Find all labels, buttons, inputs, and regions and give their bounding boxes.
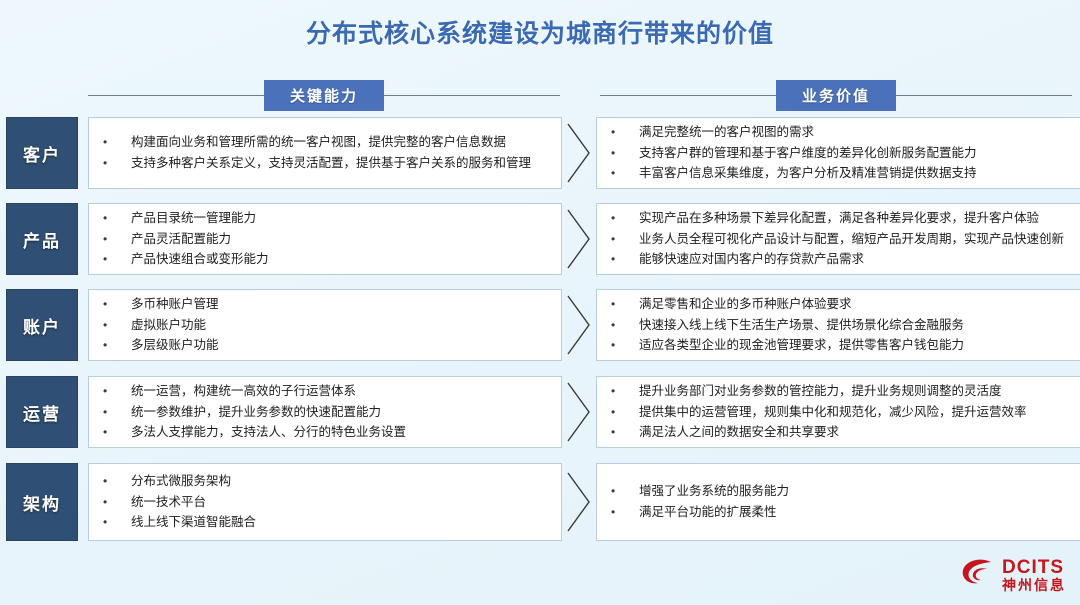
bullet-text: 快速接入线上线下生活生产场景、提供场景化综合金融服务 [639, 319, 1071, 332]
capability-row: 客户•构建面向业务和管理所需的统一客户视图，提供完整的客户信息数据•支持多种客户… [0, 117, 1080, 189]
bullet-icon: • [611, 319, 639, 332]
bullet-icon: • [611, 167, 639, 180]
bullet-item: •虚拟账户功能 [103, 315, 551, 336]
bullet-icon: • [611, 147, 639, 160]
bullet-item: •统一参数维护，提升业务参数的快速配置能力 [103, 402, 551, 423]
bullet-icon: • [611, 253, 639, 266]
logo-en-label: DCITS [1002, 558, 1066, 578]
bullet-text: 能够快速应对国内客户的存贷款产品需求 [639, 253, 1071, 266]
column-header-key-capabilities: 关键能力 [88, 82, 560, 109]
bullet-icon: • [103, 212, 131, 225]
bullet-icon: • [103, 475, 131, 488]
bullet-text: 丰富客户信息采集维度，为客户分析及精准营销提供数据支持 [639, 167, 1071, 180]
bullet-item: •分布式微服务架构 [103, 471, 551, 492]
bullet-item: •统一运营，构建统一高效的子行运营体系 [103, 381, 551, 402]
capability-row: 架构•分布式微服务架构•统一技术平台•线上线下渠道智能融合•增强了业务系统的服务… [0, 463, 1080, 541]
chevron-right-icon [562, 289, 596, 361]
page-title: 分布式核心系统建设为城商行带来的价值 [0, 14, 1080, 50]
capabilities-panel: •分布式微服务架构•统一技术平台•线上线下渠道智能融合 [88, 463, 562, 541]
bullet-icon: • [611, 506, 639, 519]
bullet-icon: • [103, 157, 131, 170]
business-value-panel: •满足完整统一的客户视图的需求•支持客户群的管理和基于客户维度的差异化创新服务配… [596, 117, 1080, 189]
bullet-text: 满足完整统一的客户视图的需求 [639, 126, 1071, 139]
bullet-text: 满足法人之间的数据安全和共享要求 [639, 426, 1071, 439]
bullet-text: 多法人支撑能力，支持法人、分行的特色业务设置 [131, 426, 551, 439]
bullet-item: •线上线下渠道智能融合 [103, 512, 551, 533]
row-label-4: 架构 [6, 463, 78, 541]
capability-row: 账户•多币种账户管理•虚拟账户功能•多层级账户功能•满足零售和企业的多币种账户体… [0, 289, 1080, 361]
bullet-icon: • [611, 233, 639, 246]
logo-text-block: DCITS 神州信息 [1002, 558, 1066, 593]
row-label-2: 账户 [6, 289, 78, 361]
header-rule-right [600, 95, 776, 96]
bullet-text: 实现产品在多种场景下差异化配置，满足各种差异化要求，提升客户体验 [639, 212, 1071, 225]
capabilities-panel: •多币种账户管理•虚拟账户功能•多层级账户功能 [88, 289, 562, 361]
bullet-text: 适应各类型企业的现金池管理要求，提供零售客户钱包能力 [639, 339, 1071, 352]
dcits-swirl-icon [961, 558, 995, 593]
bullet-icon: • [103, 339, 131, 352]
bullet-item: •能够快速应对国内客户的存贷款产品需求 [611, 249, 1071, 270]
chevron-right-icon [562, 376, 596, 448]
bullet-text: 提供集中的运营管理，规则集中化和规范化，减少风险，提升运营效率 [639, 406, 1071, 419]
bullet-item: •满足完整统一的客户视图的需求 [611, 122, 1071, 143]
business-value-panel: •增强了业务系统的服务能力•满足平台功能的扩展柔性 [596, 463, 1080, 541]
bullet-item: •实现产品在多种场景下差异化配置，满足各种差异化要求，提升客户体验 [611, 208, 1071, 229]
bullet-icon: • [103, 233, 131, 246]
bullet-icon: • [103, 253, 131, 266]
header-rule-left-2 [384, 95, 560, 96]
bullet-text: 支持客户群的管理和基于客户维度的差异化创新服务配置能力 [639, 147, 1071, 160]
bullet-icon: • [103, 298, 131, 311]
bullet-item: •构建面向业务和管理所需的统一客户视图，提供完整的客户信息数据 [103, 132, 551, 153]
bullet-text: 统一参数维护，提升业务参数的快速配置能力 [131, 406, 551, 419]
bullet-text: 满足零售和企业的多币种账户体验要求 [639, 298, 1071, 311]
bullet-text: 提升业务部门对业务参数的管控能力，提升业务规则调整的灵活度 [639, 385, 1071, 398]
capability-row: 运营•统一运营，构建统一高效的子行运营体系•统一参数维护，提升业务参数的快速配置… [0, 376, 1080, 448]
header-rule-right-2 [896, 95, 1072, 96]
bullet-text: 线上线下渠道智能融合 [131, 516, 551, 529]
bullet-text: 业务人员全程可视化产品设计与配置，缩短产品开发周期，实现产品快速创新 [639, 233, 1071, 246]
header-rule-left [88, 95, 264, 96]
bullet-text: 产品快速组合或变形能力 [131, 253, 551, 266]
bullet-item: •丰富客户信息采集维度，为客户分析及精准营销提供数据支持 [611, 163, 1071, 184]
bullet-icon: • [103, 406, 131, 419]
bullet-item: •产品灵活配置能力 [103, 229, 551, 250]
slide-canvas: 分布式核心系统建设为城商行带来的价值 关键能力 业务价值 客户•构建面向业务和管… [0, 0, 1080, 605]
bullet-item: •统一技术平台 [103, 492, 551, 513]
bullet-icon: • [611, 426, 639, 439]
bullet-icon: • [611, 339, 639, 352]
capability-row: 产品•产品目录统一管理能力•产品灵活配置能力•产品快速组合或变形能力•实现产品在… [0, 203, 1080, 275]
bullet-item: •满足平台功能的扩展柔性 [611, 502, 1071, 523]
column-header-business-value: 业务价值 [600, 82, 1072, 109]
chevron-right-icon [562, 203, 596, 275]
bullet-item: •提供集中的运营管理，规则集中化和规范化，减少风险，提升运营效率 [611, 402, 1071, 423]
bullet-text: 虚拟账户功能 [131, 319, 551, 332]
capabilities-panel: •构建面向业务和管理所需的统一客户视图，提供完整的客户信息数据•支持多种客户关系… [88, 117, 562, 189]
bullet-icon: • [103, 319, 131, 332]
bullet-item: •提升业务部门对业务参数的管控能力，提升业务规则调整的灵活度 [611, 381, 1071, 402]
bullet-icon: • [611, 126, 639, 139]
bullet-text: 分布式微服务架构 [131, 475, 551, 488]
bullet-item: •满足零售和企业的多币种账户体验要求 [611, 294, 1071, 315]
bullet-text: 支持多种客户关系定义，支持灵活配置，提供基于客户关系的服务和管理 [131, 157, 551, 170]
bullet-text: 增强了业务系统的服务能力 [639, 485, 1071, 498]
bullet-icon: • [103, 426, 131, 439]
bullet-icon: • [611, 406, 639, 419]
capabilities-panel: •产品目录统一管理能力•产品灵活配置能力•产品快速组合或变形能力 [88, 203, 562, 275]
bullet-text: 多层级账户功能 [131, 339, 551, 352]
bullet-item: •多币种账户管理 [103, 294, 551, 315]
chevron-right-icon [562, 117, 596, 189]
bullet-item: •快速接入线上线下生活生产场景、提供场景化综合金融服务 [611, 315, 1071, 336]
bullet-icon: • [103, 136, 131, 149]
bullet-item: •适应各类型企业的现金池管理要求，提供零售客户钱包能力 [611, 335, 1071, 356]
bullet-icon: • [103, 496, 131, 509]
bullet-text: 统一技术平台 [131, 496, 551, 509]
bullet-icon: • [103, 516, 131, 529]
bullet-icon: • [103, 385, 131, 398]
logo-cn-label: 神州信息 [1002, 578, 1066, 593]
bullet-item: •业务人员全程可视化产品设计与配置，缩短产品开发周期，实现产品快速创新 [611, 229, 1071, 250]
bullet-item: •产品目录统一管理能力 [103, 208, 551, 229]
company-logo: DCITS 神州信息 [961, 558, 1066, 593]
bullet-text: 产品目录统一管理能力 [131, 212, 551, 225]
bullet-text: 统一运营，构建统一高效的子行运营体系 [131, 385, 551, 398]
bullet-item: •多法人支撑能力，支持法人、分行的特色业务设置 [103, 422, 551, 443]
business-value-panel: •提升业务部门对业务参数的管控能力，提升业务规则调整的灵活度•提供集中的运营管理… [596, 376, 1080, 448]
bullet-icon: • [611, 485, 639, 498]
bullet-text: 构建面向业务和管理所需的统一客户视图，提供完整的客户信息数据 [131, 136, 551, 149]
capabilities-panel: •统一运营，构建统一高效的子行运营体系•统一参数维护，提升业务参数的快速配置能力… [88, 376, 562, 448]
row-label-1: 产品 [6, 203, 78, 275]
chevron-right-icon [562, 463, 596, 541]
column-header-right-label: 业务价值 [776, 80, 896, 111]
column-header-left-label: 关键能力 [264, 80, 384, 111]
bullet-icon: • [611, 212, 639, 225]
bullet-item: •产品快速组合或变形能力 [103, 249, 551, 270]
row-label-0: 客户 [6, 117, 78, 189]
business-value-panel: •满足零售和企业的多币种账户体验要求•快速接入线上线下生活生产场景、提供场景化综… [596, 289, 1080, 361]
bullet-text: 满足平台功能的扩展柔性 [639, 506, 1071, 519]
bullet-text: 产品灵活配置能力 [131, 233, 551, 246]
bullet-text: 多币种账户管理 [131, 298, 551, 311]
bullet-icon: • [611, 298, 639, 311]
bullet-icon: • [611, 385, 639, 398]
bullet-item: •满足法人之间的数据安全和共享要求 [611, 422, 1071, 443]
bullet-item: •增强了业务系统的服务能力 [611, 481, 1071, 502]
bullet-item: •支持客户群的管理和基于客户维度的差异化创新服务配置能力 [611, 143, 1071, 164]
bullet-item: •支持多种客户关系定义，支持灵活配置，提供基于客户关系的服务和管理 [103, 153, 551, 174]
business-value-panel: •实现产品在多种场景下差异化配置，满足各种差异化要求，提升客户体验•业务人员全程… [596, 203, 1080, 275]
row-label-3: 运营 [6, 376, 78, 448]
bullet-item: •多层级账户功能 [103, 335, 551, 356]
